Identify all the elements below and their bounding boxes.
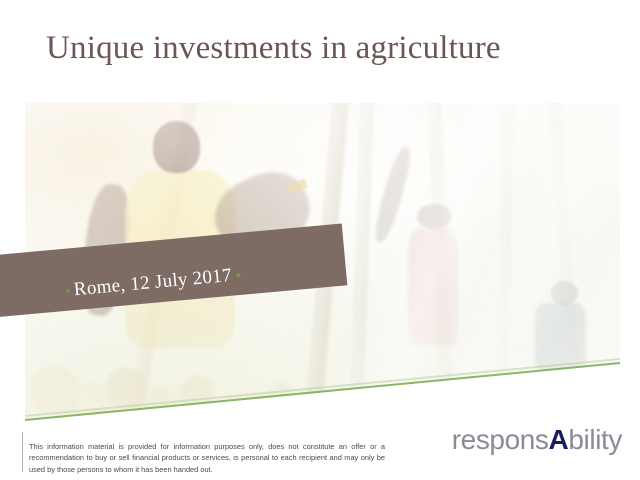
slide-title: Unique investments in agriculture	[46, 28, 606, 68]
responsability-logo: responsAbility	[452, 424, 622, 456]
logo-accent-letter: A	[549, 424, 569, 455]
logo-suffix: bility	[568, 424, 622, 455]
bullet-dot-icon	[66, 289, 70, 293]
footer-divider	[22, 432, 23, 472]
logo-prefix: respons	[452, 424, 549, 455]
bullet-dot-icon	[237, 273, 241, 277]
presentation-slide: Unique investments in agriculture	[0, 0, 640, 480]
disclaimer-text: This information material is provided fo…	[29, 441, 385, 475]
